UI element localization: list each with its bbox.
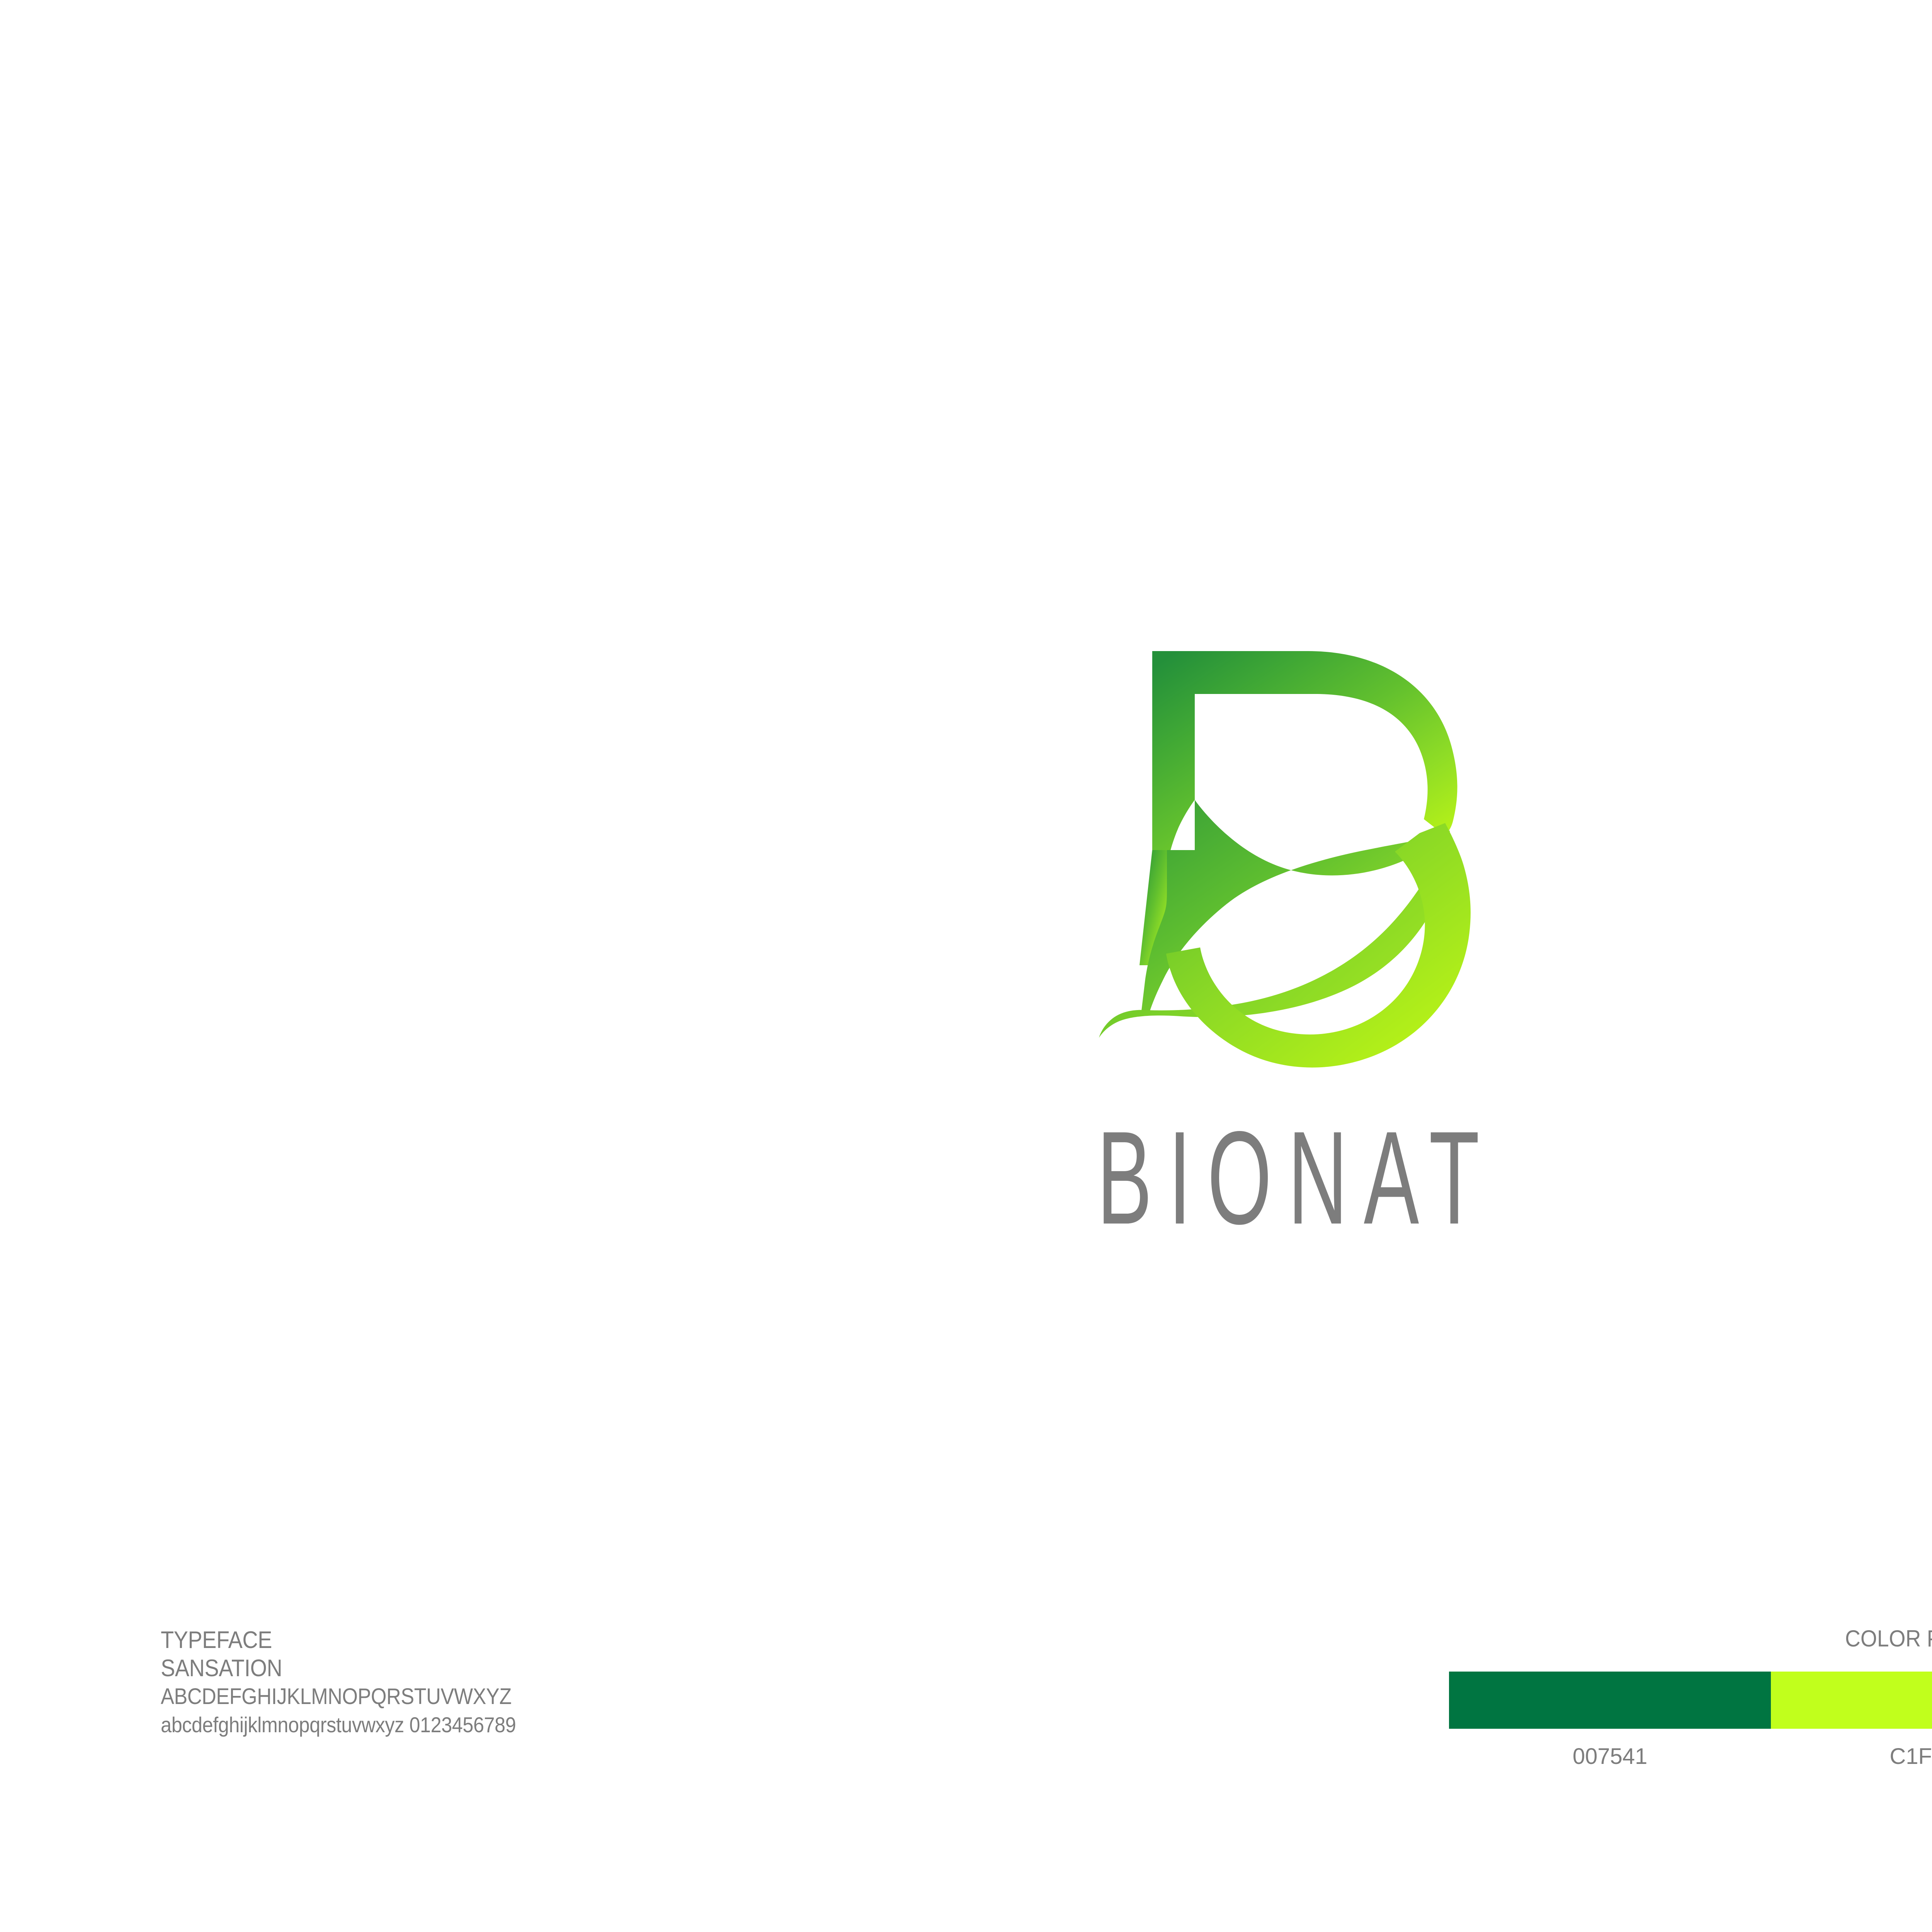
typeface-uppercase-specimen: ABCDEFGHIJKLMNOPQRSTUVWXYZ <box>161 1682 516 1711</box>
color-swatch-label-1: 007541 <box>1449 1744 1771 1769</box>
wordmark-bionat: BIONAT <box>1081 1111 1495 1244</box>
typeface-name: SANSATION <box>161 1654 516 1682</box>
logo-lockup: BIONAT <box>0 618 1932 1215</box>
typeface-heading: TYPEFACE <box>161 1626 516 1654</box>
color-swatch-2[interactable] <box>1771 1672 1932 1729</box>
typeface-lowercase-specimen: abcdefghijklmnopqrstuvwxyz 0123456789 <box>161 1711 516 1739</box>
color-pallets-title: COLOR PALLETS <box>1488 1626 1932 1651</box>
color-swatch-bar <box>1449 1672 1932 1729</box>
color-swatch-1[interactable] <box>1449 1672 1771 1729</box>
color-swatch-label-2: C1FF1C <box>1771 1744 1932 1769</box>
bionat-leaf-b-mark-icon <box>1060 618 1516 1101</box>
color-swatch-labels: 007541 C1FF1C 7D7D7D <box>1449 1744 1932 1769</box>
typeface-block: TYPEFACE SANSATION ABCDEFGHIJKLMNOPQRSTU… <box>161 1626 555 1739</box>
color-pallets-block: COLOR PALLETS 007541 C1FF1C 7D7D7D <box>1449 1626 1932 1769</box>
